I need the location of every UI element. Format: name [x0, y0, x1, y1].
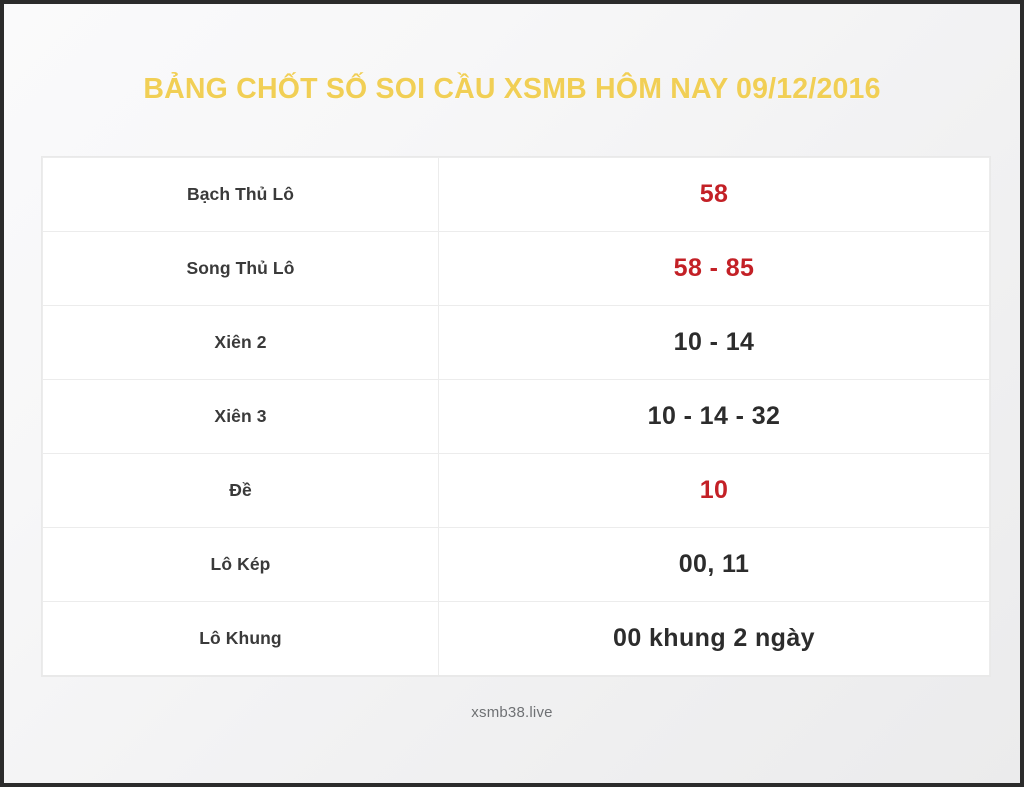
site-watermark: xsmb38.live [4, 704, 1020, 721]
bet-number-value: 58 [439, 158, 990, 232]
bet-number-value: 10 - 14 - 32 [439, 380, 990, 454]
bet-type-label: Xiên 2 [43, 306, 439, 380]
prediction-table-page: BẢNG CHỐT SỐ SOI CẦU XSMB HÔM NAY 09/12/… [0, 0, 1024, 787]
bet-number-value: 00, 11 [439, 528, 990, 602]
bet-type-label: Lô Kép [43, 528, 439, 602]
table-row: Đề10 [43, 454, 990, 528]
bet-type-label: Song Thủ Lô [43, 232, 439, 306]
table-row: Lô Khung00 khung 2 ngày [43, 602, 990, 676]
bet-number-value: 10 [439, 454, 990, 528]
bet-type-label: Lô Khung [43, 602, 439, 676]
table-row: Xiên 210 - 14 [43, 306, 990, 380]
bet-number-value: 10 - 14 [439, 306, 990, 380]
bet-number-value: 00 khung 2 ngày [439, 602, 990, 676]
prediction-table: Bạch Thủ Lô58Song Thủ Lô58 - 85Xiên 210 … [42, 157, 990, 676]
prediction-table-body: Bạch Thủ Lô58Song Thủ Lô58 - 85Xiên 210 … [43, 158, 990, 676]
table-row: Xiên 310 - 14 - 32 [43, 380, 990, 454]
table-row: Song Thủ Lô58 - 85 [43, 232, 990, 306]
page-title: BẢNG CHỐT SỐ SOI CẦU XSMB HÔM NAY 09/12/… [143, 4, 880, 105]
prediction-table-container: Bạch Thủ Lô58Song Thủ Lô58 - 85Xiên 210 … [42, 157, 990, 675]
bet-type-label: Bạch Thủ Lô [43, 158, 439, 232]
table-row: Lô Kép00, 11 [43, 528, 990, 602]
bet-number-value: 58 - 85 [439, 232, 990, 306]
table-row: Bạch Thủ Lô58 [43, 158, 990, 232]
bet-type-label: Đề [43, 454, 439, 528]
bet-type-label: Xiên 3 [43, 380, 439, 454]
